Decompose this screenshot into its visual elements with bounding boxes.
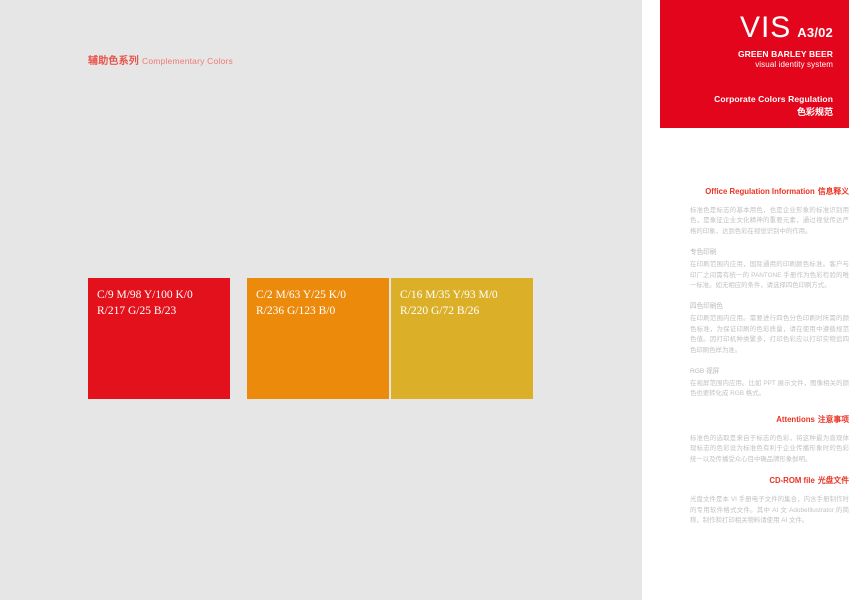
block-title: CD-ROM file光盘文件 <box>690 475 849 486</box>
regulation-title-en: Corporate Colors Regulation <box>660 94 833 104</box>
swatch-rgb-value: R/236 G/123 B/0 <box>256 303 389 319</box>
subsection-title-rgb-screen: RGB 视屏 <box>690 365 849 375</box>
subsection-title-four-color-printing: 四色印刷色 <box>690 300 849 310</box>
swatch-rgb-value: R/217 G/25 B/23 <box>97 303 230 319</box>
sidebar: VIS A3/02 GREEN BARLEY BEER visual ident… <box>642 0 849 600</box>
block-title-cn: 光盘文件 <box>818 476 849 485</box>
title-card-heading-row: VIS A3/02 <box>660 12 833 44</box>
color-swatch-gold[interactable]: C/16 M/35 Y/93 M/0 R/220 G/72 B/26 <box>391 278 533 399</box>
block-paragraph: 标准色是标志的基本用色，也是企业形象的标准识别用色，是象征企业文化精神的重要元素… <box>690 206 849 237</box>
block-spacer <box>690 465 849 475</box>
block-paragraph: 标准色的选取是来自于标志的色彩，将这种最为直观体现标志的色彩设为标准色有利于企业… <box>690 434 849 465</box>
brand-name: GREEN BARLEY BEER <box>660 49 833 59</box>
vis-logotype: VIS <box>740 12 791 44</box>
info-block-office-regulation: Office Regulation Information信息释义 标准色是标志… <box>690 186 849 400</box>
color-swatch-orange[interactable]: C/2 M/63 Y/25 K/0 R/236 G/123 B/0 <box>247 278 389 399</box>
block-title-en: Attentions <box>776 415 815 424</box>
block-title-cn: 注意事项 <box>818 415 849 424</box>
block-title-en: CD-ROM file <box>769 476 814 485</box>
subsection-paragraph: 在印刷范围内应用。需要进行四色分色印刷时所需的颜色标准，为保证印刷的色彩质量，请… <box>690 314 849 356</box>
page-title: 辅助色系列Complementary Colors <box>88 52 233 67</box>
swatch-cmyk-value: C/9 M/98 Y/100 K/0 <box>97 287 230 303</box>
subsection-title-spot-printing: 专色印刷 <box>690 246 849 256</box>
subsection-paragraph: 在印刷范围内应用，国际通用的印刷颜色标准。客户与印厂之间需有统一的 PANTON… <box>690 260 849 291</box>
info-block-cdrom-file: CD-ROM file光盘文件 光盘文件是本 VI 手册电子文件的集合，内含手册… <box>690 475 849 526</box>
block-spacer <box>690 400 849 414</box>
page-title-cn: 辅助色系列 <box>88 56 139 67</box>
system-subtitle: visual identity system <box>660 60 833 69</box>
swatch-cmyk-value: C/2 M/63 Y/25 K/0 <box>256 287 389 303</box>
info-block-attentions: Attentions注意事项 标准色的选取是来自于标志的色彩，将这种最为直观体现… <box>690 414 849 465</box>
swatch-rgb-value: R/220 G/72 B/26 <box>400 303 533 319</box>
sidebar-text-column: Office Regulation Information信息释义 标准色是标志… <box>690 186 849 526</box>
block-title: Attentions注意事项 <box>690 414 849 425</box>
artboard-canvas: 辅助色系列Complementary Colors C/9 M/98 Y/100… <box>0 0 642 600</box>
page-code: A3/02 <box>797 25 833 40</box>
regulation-title-cn: 色彩规范 <box>660 105 833 118</box>
block-title: Office Regulation Information信息释义 <box>690 186 849 197</box>
color-swatch-red[interactable]: C/9 M/98 Y/100 K/0 R/217 G/25 B/23 <box>88 278 230 399</box>
block-title-en: Office Regulation Information <box>705 187 815 196</box>
page-title-en: Complementary Colors <box>142 56 233 66</box>
block-paragraph: 光盘文件是本 VI 手册电子文件的集合，内含手册制作时的专用软件格式文件。其中 … <box>690 495 849 526</box>
block-title-cn: 信息释义 <box>818 187 849 196</box>
swatch-cmyk-value: C/16 M/35 Y/93 M/0 <box>400 287 533 303</box>
title-card: VIS A3/02 GREEN BARLEY BEER visual ident… <box>660 0 849 128</box>
subsection-paragraph: 在视屏范围内应用。比如 PPT 展示文件，图像相关的颜色也要转化成 RGB 格式… <box>690 379 849 400</box>
